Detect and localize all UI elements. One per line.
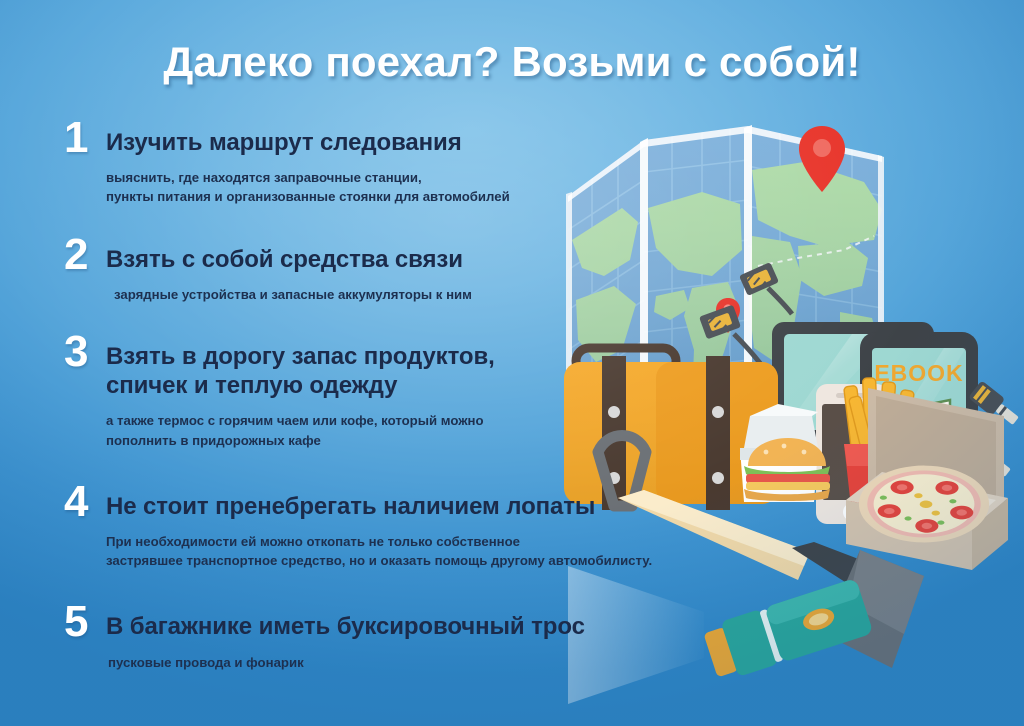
list-item-subtext: зарядные устройства и запасные аккумулят…: [114, 285, 684, 304]
list-item-title: Взять с собой средства связи: [106, 245, 684, 274]
list-item-number: 5: [64, 600, 88, 644]
page-title: Далеко поехал? Возьми с собой!: [0, 38, 1024, 86]
infographic-poster: EBOOK: [0, 0, 1024, 726]
list-item-subtext: а также термос с горячим чаем или кофе, …: [106, 411, 684, 449]
list-item-subtext: При необходимости ей можно откопать не т…: [106, 532, 684, 570]
list-item-number: 2: [64, 233, 88, 277]
tips-list: 1 Изучить маршрут следования выяснить, г…: [64, 128, 684, 676]
list-item-5: 5 В багажнике иметь буксировочный трос п…: [64, 612, 684, 671]
list-item-4: 4 Не стоит пренебрегать наличием лопаты …: [64, 492, 684, 571]
list-item-3: 3 Взять в дорогу запас продуктов, спичек…: [64, 342, 684, 450]
list-item-1: 1 Изучить маршрут следования выяснить, г…: [64, 128, 684, 207]
list-item-number: 3: [64, 330, 88, 374]
pizza-in-box: [846, 388, 1008, 570]
list-item-subtext: выяснить, где находятся заправочные стан…: [106, 168, 684, 206]
list-item-title: Не стоит пренебрегать наличием лопаты: [106, 492, 684, 521]
list-item-2: 2 Взять с собой средства связи зарядные …: [64, 245, 684, 304]
list-item-number: 4: [64, 480, 88, 524]
list-item-title: Взять в дорогу запас продуктов, спичек и…: [106, 342, 684, 401]
list-item-subtext: пусковые провода и фонарик: [108, 653, 684, 672]
list-item-title: Изучить маршрут следования: [106, 128, 684, 157]
list-item-title: В багажнике иметь буксировочный трос: [106, 612, 684, 641]
list-item-number: 1: [64, 116, 88, 160]
